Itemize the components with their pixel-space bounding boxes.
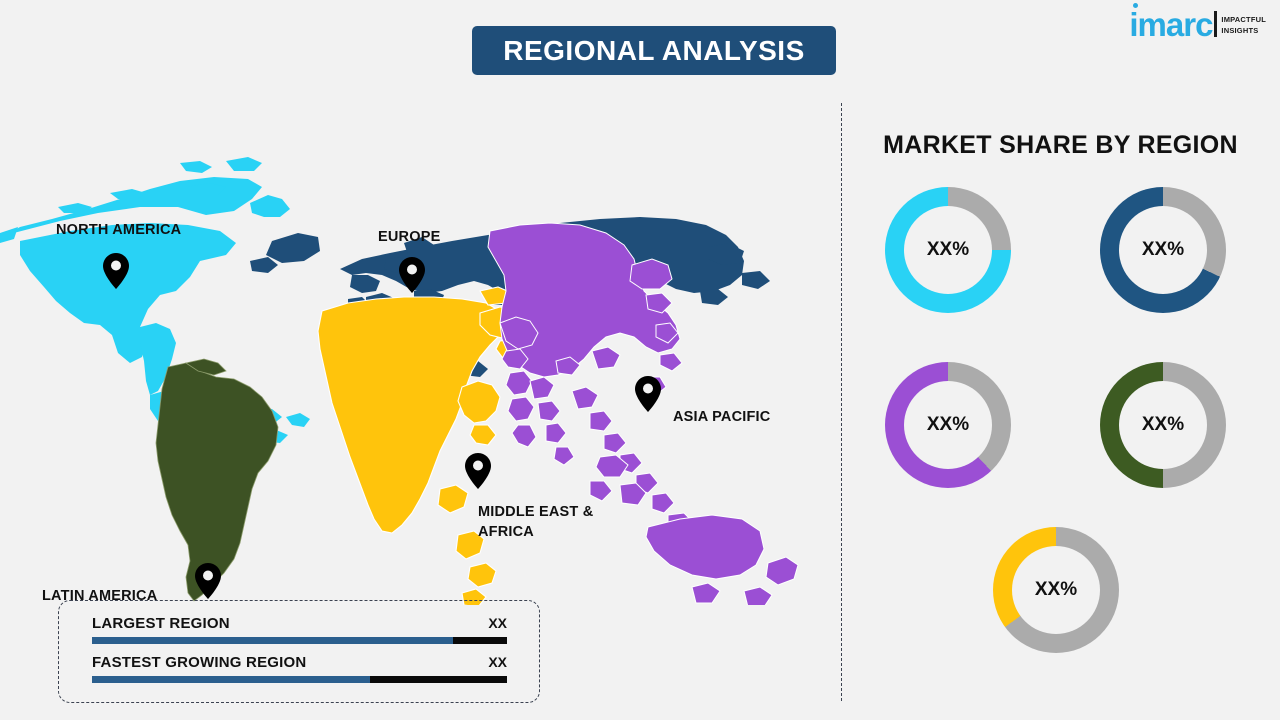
legend-row-fastest-growing-region: FASTEST GROWING REGION XX	[92, 654, 507, 683]
map-pin-asia-pacific-icon[interactable]	[635, 376, 661, 412]
donut-value-asia-pacific: XX%	[927, 414, 969, 436]
donut-hole-latin-america: XX%	[1119, 381, 1207, 469]
donut-hole-north-america: XX%	[904, 206, 992, 294]
logo-tagline: IMPACTFUL INSIGHTS	[1221, 15, 1266, 35]
market-share-title: MARKET SHARE BY REGION	[841, 131, 1280, 160]
legend-bar-largest-region	[92, 637, 507, 644]
legend-bar-fill-fastest-growing-region	[92, 676, 370, 683]
legend-value-largest-region: XX	[488, 615, 507, 631]
legend-bar-fastest-growing-region	[92, 676, 507, 683]
legend-bar-fill-largest-region	[92, 637, 453, 644]
logo-tagline-line2: INSIGHTS	[1221, 26, 1266, 36]
region-summary-box: LARGEST REGION XX FASTEST GROWING REGION…	[58, 600, 540, 703]
map-pin-middle-east-africa-icon[interactable]	[465, 453, 491, 489]
page-title-banner: REGIONAL ANALYSIS	[472, 26, 836, 75]
map-pin-north-america-icon[interactable]	[103, 253, 129, 289]
legend-label-fastest-growing-region: FASTEST GROWING REGION	[92, 654, 306, 671]
map-label-europe: EUROPE	[378, 228, 440, 248]
map-pin-europe-icon[interactable]	[399, 257, 425, 293]
donut-hole-asia-pacific: XX%	[904, 381, 992, 469]
map-label-middle-east-africa: MIDDLE EAST & AFRICA	[478, 503, 593, 542]
world-map-panel: NORTH AMERICA EUROPE ASIA PACIFIC MIDDLE…	[0, 95, 830, 605]
donut-hole-middle-east-africa: XX%	[1012, 546, 1100, 634]
legend-value-fastest-growing-region: XX	[488, 654, 507, 670]
legend-label-largest-region: LARGEST REGION	[92, 615, 230, 632]
world-map-graphic	[0, 95, 830, 605]
donut-chart-middle-east-africa: XX%	[993, 527, 1119, 653]
donut-value-europe: XX%	[1142, 239, 1184, 261]
map-label-north-america: NORTH AMERICA	[56, 221, 181, 241]
donut-value-middle-east-africa: XX%	[1035, 579, 1077, 601]
legend-row-largest-region: LARGEST REGION XX	[92, 615, 507, 644]
logo-word-text: imarc	[1129, 6, 1212, 43]
panel-divider	[841, 103, 842, 701]
donut-value-north-america: XX%	[927, 239, 969, 261]
donut-chart-north-america: XX%	[885, 187, 1011, 313]
regional-analysis-infographic: REGIONAL ANALYSIS imarc IMPACTFUL INSIGH…	[0, 0, 1280, 720]
map-pin-latin-america-icon[interactable]	[195, 563, 221, 599]
page-title: REGIONAL ANALYSIS	[503, 35, 805, 67]
donut-chart-latin-america: XX%	[1100, 362, 1226, 488]
logo-wordmark: imarc	[1129, 10, 1212, 40]
logo-tagline-line1: IMPACTFUL	[1221, 15, 1266, 25]
imarc-logo: imarc IMPACTFUL INSIGHTS	[1129, 10, 1266, 40]
map-label-asia-pacific: ASIA PACIFIC	[673, 408, 770, 428]
donut-chart-asia-pacific: XX%	[885, 362, 1011, 488]
donut-hole-europe: XX%	[1119, 206, 1207, 294]
donut-value-latin-america: XX%	[1142, 414, 1184, 436]
logo-divider	[1214, 11, 1217, 37]
donut-chart-europe: XX%	[1100, 187, 1226, 313]
